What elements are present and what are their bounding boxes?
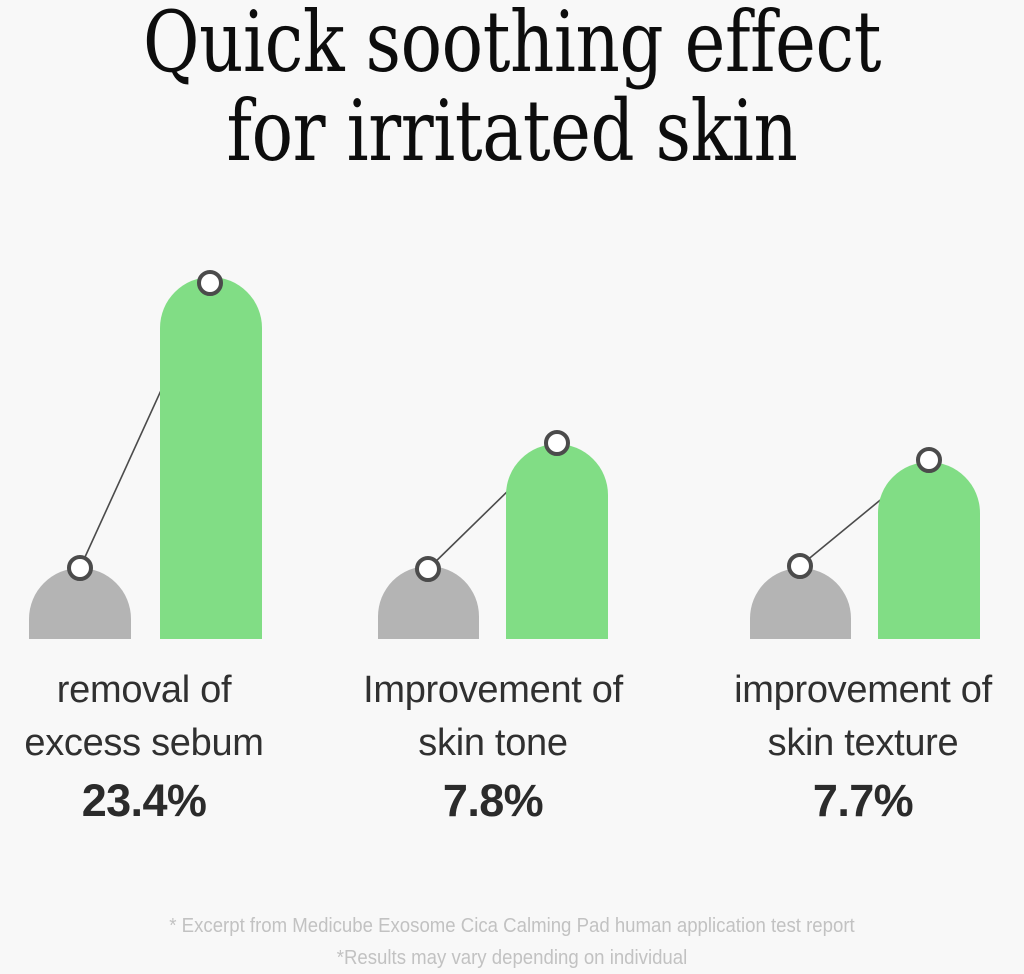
footnote-line-2: *Results may vary depending on individua… xyxy=(36,942,988,974)
bar-chart: removal of excess sebum 23.4% Improvemen… xyxy=(0,0,1024,972)
after-bar-group-1 xyxy=(160,277,262,639)
group-3-label-line-2: skin texture xyxy=(703,717,1023,770)
before-marker-group-3 xyxy=(787,553,813,579)
before-marker-group-1 xyxy=(67,555,93,581)
group-1-value: 23.4% xyxy=(0,770,304,829)
after-marker-group-3 xyxy=(916,447,942,473)
after-bar-group-2 xyxy=(506,444,608,639)
before-marker-group-2 xyxy=(415,556,441,582)
footnote: * Excerpt from Medicube Exosome Cica Cal… xyxy=(0,910,1024,974)
group-2-label-line-2: skin tone xyxy=(333,717,653,770)
after-marker-group-2 xyxy=(544,430,570,456)
after-bar-group-3 xyxy=(878,462,980,639)
group-caption-3: improvement of skin texture 7.7% xyxy=(703,664,1023,829)
group-caption-1: removal of excess sebum 23.4% xyxy=(0,664,304,829)
group-3-value: 7.7% xyxy=(703,770,1023,829)
after-marker-group-1 xyxy=(197,270,223,296)
group-2-value: 7.8% xyxy=(333,770,653,829)
group-caption-2: Improvement of skin tone 7.8% xyxy=(333,664,653,829)
infographic-canvas: Quick soothing effect for irritated skin… xyxy=(0,0,1024,972)
group-1-label-line-1: removal of xyxy=(0,664,304,717)
footnote-line-1: * Excerpt from Medicube Exosome Cica Cal… xyxy=(36,910,988,942)
group-3-label-line-1: improvement of xyxy=(703,664,1023,717)
group-2-label-line-1: Improvement of xyxy=(333,664,653,717)
group-1-label-line-2: excess sebum xyxy=(0,717,304,770)
